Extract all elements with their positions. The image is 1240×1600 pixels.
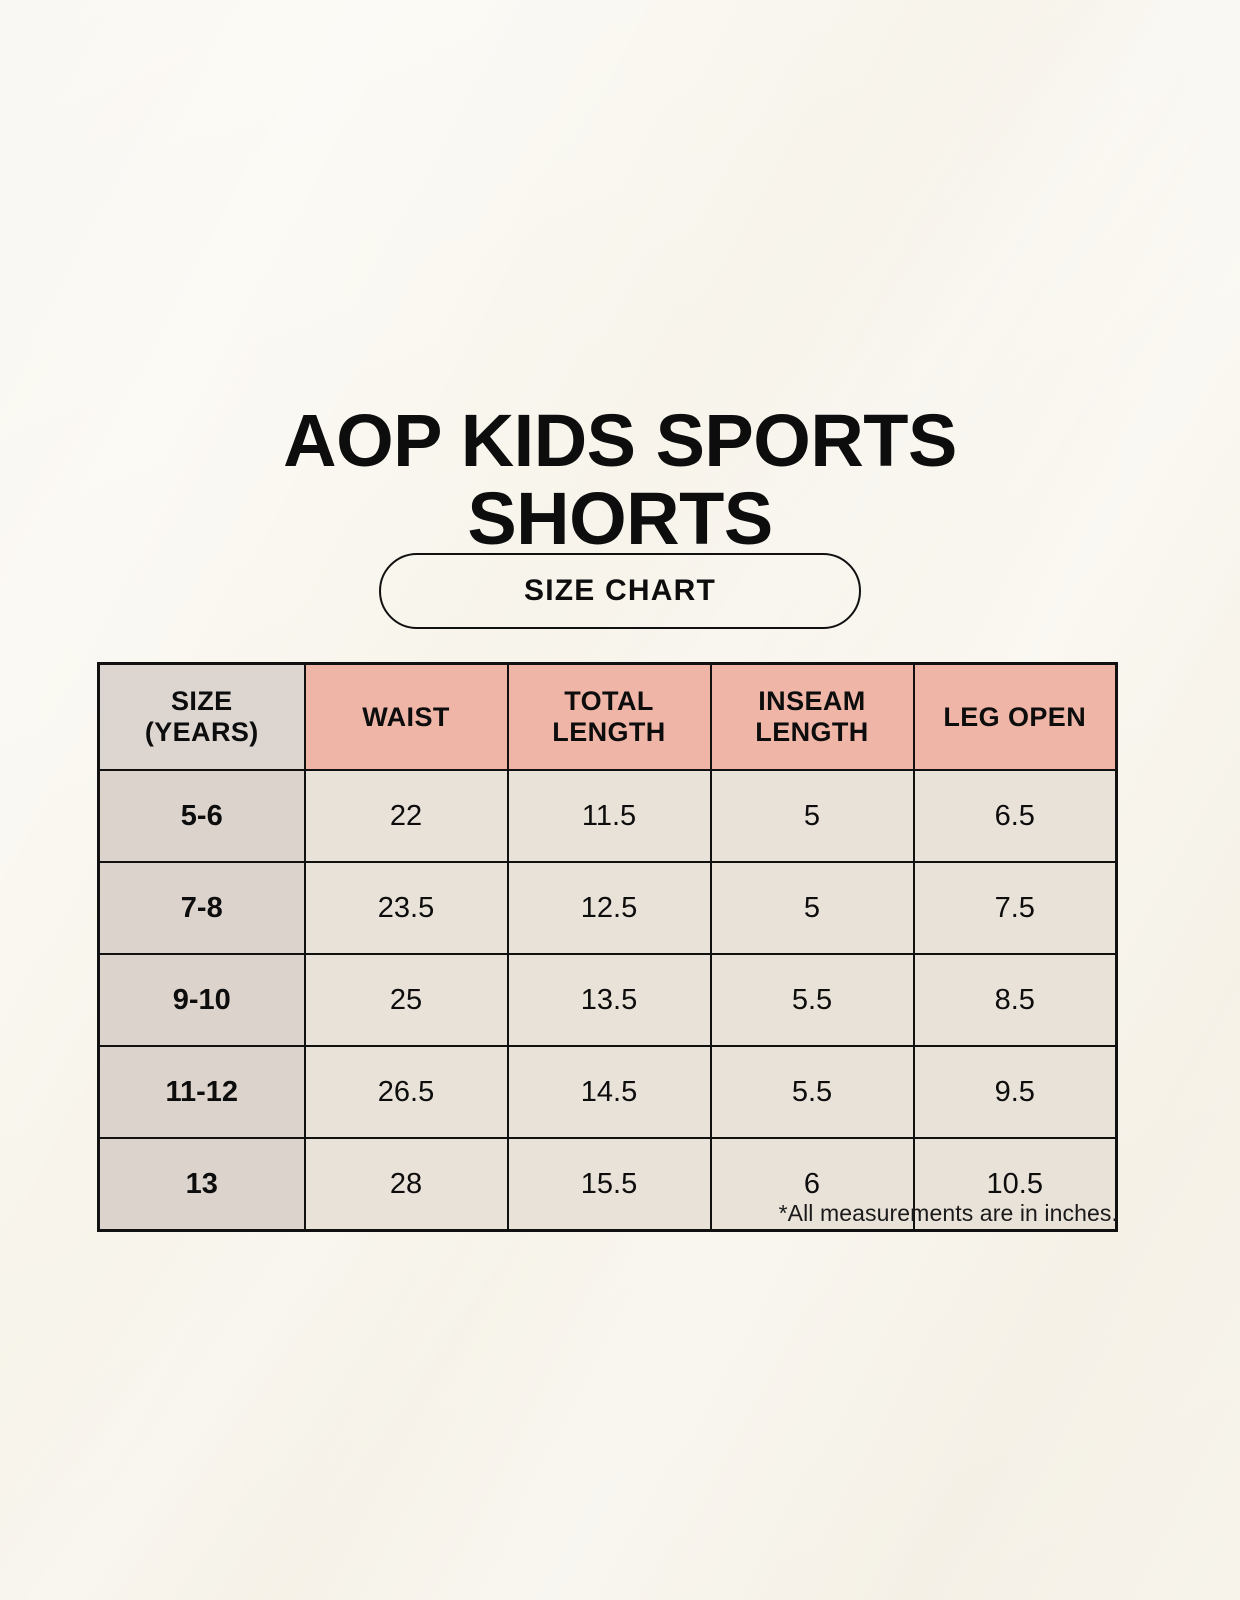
cell-total-length: 12.5 [508,862,711,954]
cell-leg-open: 6.5 [914,770,1117,862]
cell-size: 9-10 [99,954,305,1046]
cell-total-length: 11.5 [508,770,711,862]
page-title: AOP KIDS SPORTS SHORTS [0,402,1240,558]
size-chart-table-wrapper: SIZE (YEARS) WAIST TOTAL LENGTH INSEAM L… [97,662,1118,1232]
column-header-size-line1: SIZE [171,686,233,716]
cell-leg-open: 8.5 [914,954,1117,1046]
size-chart-table: SIZE (YEARS) WAIST TOTAL LENGTH INSEAM L… [97,662,1118,1232]
cell-total-length: 14.5 [508,1046,711,1138]
cell-size: 7-8 [99,862,305,954]
table-row: 5-6 22 11.5 5 6.5 [99,770,1117,862]
table-body: 5-6 22 11.5 5 6.5 7-8 23.5 12.5 5 7.5 9-… [99,770,1117,1231]
cell-waist: 25 [305,954,508,1046]
column-header-size: SIZE (YEARS) [99,664,305,771]
size-chart-badge: SIZE CHART [379,553,861,629]
column-header-total-length-line2: LENGTH [552,717,665,747]
column-header-total-length: TOTAL LENGTH [508,664,711,771]
cell-leg-open: 9.5 [914,1046,1117,1138]
cell-size: 11-12 [99,1046,305,1138]
table-header: SIZE (YEARS) WAIST TOTAL LENGTH INSEAM L… [99,664,1117,771]
cell-inseam-length: 5.5 [711,954,914,1046]
column-header-inseam-length: INSEAM LENGTH [711,664,914,771]
measurements-footnote: *All measurements are in inches. [97,1200,1118,1227]
size-chart-page: AOP KIDS SPORTS SHORTS SIZE CHART SIZE (… [0,0,1240,1600]
column-header-waist: WAIST [305,664,508,771]
column-header-size-line2: (YEARS) [145,717,259,747]
column-header-total-length-line1: TOTAL [564,686,654,716]
cell-waist: 26.5 [305,1046,508,1138]
cell-size: 5-6 [99,770,305,862]
cell-inseam-length: 5 [711,862,914,954]
cell-inseam-length: 5.5 [711,1046,914,1138]
table-row: 9-10 25 13.5 5.5 8.5 [99,954,1117,1046]
cell-waist: 23.5 [305,862,508,954]
table-row: 11-12 26.5 14.5 5.5 9.5 [99,1046,1117,1138]
column-header-leg-open: LEG OPEN [914,664,1117,771]
table-header-row: SIZE (YEARS) WAIST TOTAL LENGTH INSEAM L… [99,664,1117,771]
cell-waist: 22 [305,770,508,862]
cell-leg-open: 7.5 [914,862,1117,954]
badge-row: SIZE CHART [0,553,1240,629]
column-header-inseam-length-line1: INSEAM [758,686,865,716]
column-header-inseam-length-line2: LENGTH [755,717,868,747]
cell-total-length: 13.5 [508,954,711,1046]
cell-inseam-length: 5 [711,770,914,862]
table-row: 7-8 23.5 12.5 5 7.5 [99,862,1117,954]
